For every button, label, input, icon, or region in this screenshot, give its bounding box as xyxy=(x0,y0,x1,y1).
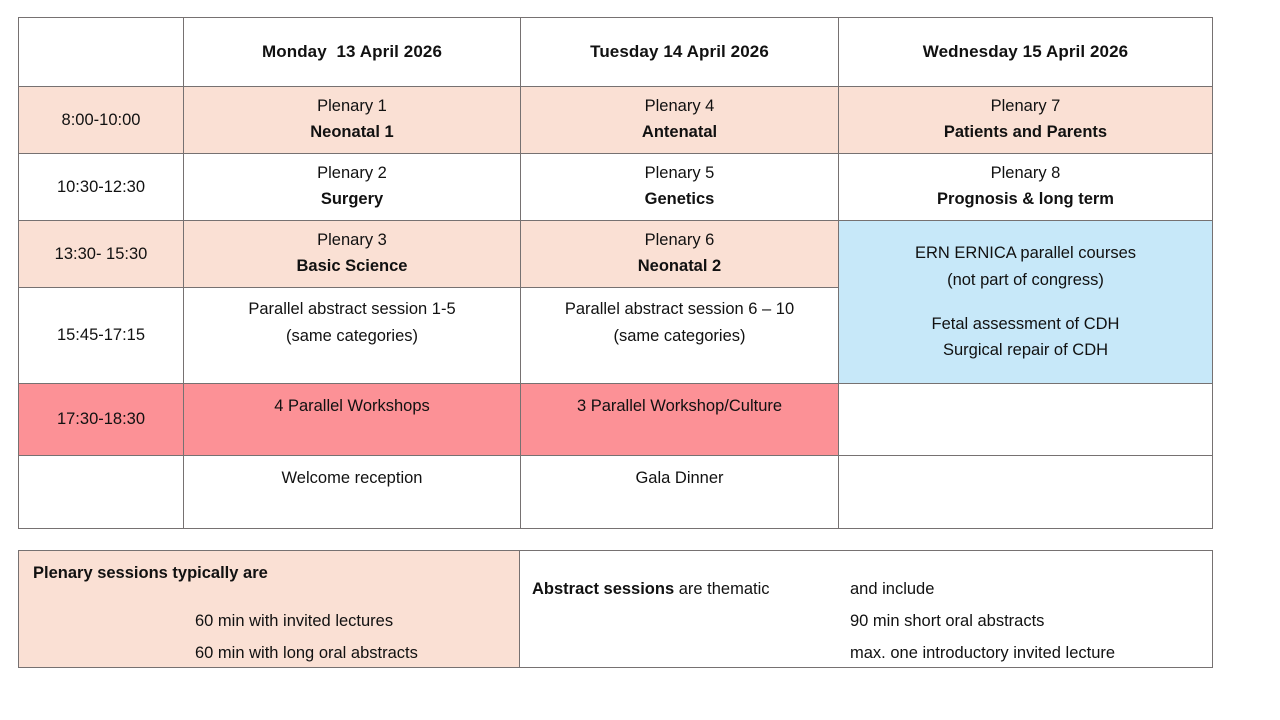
session-cell-wed-1: Plenary 8 Prognosis & long term xyxy=(839,154,1213,221)
time-cell-4: 17:30-18:30 xyxy=(19,384,184,456)
session-topic: Prognosis & long term xyxy=(839,187,1212,213)
session-topic: Surgery xyxy=(184,187,520,213)
session-title: Gala Dinner xyxy=(521,465,838,492)
session-topic: Antenatal xyxy=(521,120,838,146)
session-cell-tue-2: Plenary 6 Neonatal 2 xyxy=(521,221,839,288)
session-topic: Patients and Parents xyxy=(839,120,1212,146)
ern-line-3: Fetal assessment of CDH xyxy=(839,311,1212,338)
session-title: Plenary 5 xyxy=(521,161,838,187)
session-cell-mon-5: Welcome reception xyxy=(184,456,521,529)
session-title: Plenary 2 xyxy=(184,161,520,187)
time-cell-5 xyxy=(19,456,184,529)
legend-plenary-title: Plenary sessions typically are xyxy=(33,564,268,583)
legend-abstract-item-3: max. one introductory invited lecture xyxy=(850,644,1115,663)
legend-abstract-item-2: 90 min short oral abstracts xyxy=(850,612,1044,631)
table-row: 17:30-18:30 4 Parallel Workshops 3 Paral… xyxy=(19,384,1213,456)
session-cell-tue-3: Parallel abstract session 6 – 10 (same c… xyxy=(521,288,839,384)
session-title: Plenary 1 xyxy=(184,94,520,120)
legend-table-container: Plenary sessions typically are 60 min wi… xyxy=(18,550,1212,668)
time-cell-3: 15:45-17:15 xyxy=(19,288,184,384)
ern-spacer xyxy=(839,294,1212,311)
day-label-monday: Monday 13 April 2026 xyxy=(262,42,442,61)
session-cell-wed-5 xyxy=(839,456,1213,529)
legend-abstract-item-1: and include xyxy=(850,580,934,599)
legend-cell-plenary: Plenary sessions typically are 60 min wi… xyxy=(19,551,520,668)
header-cell-blank xyxy=(19,18,184,87)
session-title: Plenary 8 xyxy=(839,161,1212,187)
session-subtitle: (same categories) xyxy=(184,323,520,350)
session-format-legend-table: Plenary sessions typically are 60 min wi… xyxy=(18,550,1213,668)
legend-abstract-content: Abstract sessions are thematic and inclu… xyxy=(520,551,1212,667)
session-title: Plenary 4 xyxy=(521,94,838,120)
legend-abstract-title: Abstract sessions are thematic xyxy=(532,580,770,599)
legend-cell-abstract: Abstract sessions are thematic and inclu… xyxy=(520,551,1213,668)
session-cell-tue-5: Gala Dinner xyxy=(521,456,839,529)
session-title: Plenary 6 xyxy=(521,228,838,254)
session-topic: Genetics xyxy=(521,187,838,213)
table-row: 13:30- 15:30 Plenary 3 Basic Science Ple… xyxy=(19,221,1213,288)
table-row: 10:30-12:30 Plenary 2 Surgery Plenary 5 … xyxy=(19,154,1213,221)
session-title: Welcome reception xyxy=(184,465,520,492)
legend-plenary-item-2: 60 min with long oral abstracts xyxy=(195,644,418,663)
session-title: Parallel abstract session 6 – 10 xyxy=(521,296,838,323)
session-title: 3 Parallel Workshop/Culture xyxy=(521,393,838,420)
ern-line-4: Surgical repair of CDH xyxy=(839,337,1212,364)
legend-abstract-title-bold: Abstract sessions xyxy=(532,580,674,598)
session-cell-mon-0: Plenary 1 Neonatal 1 xyxy=(184,87,521,154)
session-topic: Neonatal 1 xyxy=(184,120,520,146)
time-cell-0: 8:00-10:00 xyxy=(19,87,184,154)
table-row: 8:00-10:00 Plenary 1 Neonatal 1 Plenary … xyxy=(19,87,1213,154)
session-cell-mon-2: Plenary 3 Basic Science xyxy=(184,221,521,288)
legend-abstract-title-rest: are thematic xyxy=(674,580,769,598)
table-row: Welcome reception Gala Dinner xyxy=(19,456,1213,529)
legend-row: Plenary sessions typically are 60 min wi… xyxy=(19,551,1213,668)
session-topic: Neonatal 2 xyxy=(521,254,838,280)
session-title: 4 Parallel Workshops xyxy=(184,393,520,420)
session-subtitle: (same categories) xyxy=(521,323,838,350)
table-header-row: Monday 13 April 2026 Tuesday 14 April 20… xyxy=(19,18,1213,87)
session-title: Plenary 3 xyxy=(184,228,520,254)
session-cell-mon-4: 4 Parallel Workshops xyxy=(184,384,521,456)
header-cell-monday: Monday 13 April 2026 xyxy=(184,18,521,87)
congress-schedule-table: Monday 13 April 2026 Tuesday 14 April 20… xyxy=(18,17,1213,529)
header-cell-wednesday: Wednesday 15 April 2026 xyxy=(839,18,1213,87)
schedule-table-container: Monday 13 April 2026 Tuesday 14 April 20… xyxy=(18,17,1212,529)
session-cell-wed-4 xyxy=(839,384,1213,456)
ern-line-2: (not part of congress) xyxy=(839,267,1212,294)
legend-plenary-content: Plenary sessions typically are 60 min wi… xyxy=(19,551,519,667)
ern-line-1: ERN ERNICA parallel courses xyxy=(839,240,1212,267)
session-cell-tue-0: Plenary 4 Antenatal xyxy=(521,87,839,154)
legend-plenary-item-1: 60 min with invited lectures xyxy=(195,612,393,631)
session-cell-mon-3: Parallel abstract session 1-5 (same cate… xyxy=(184,288,521,384)
session-topic: Basic Science xyxy=(184,254,520,280)
session-cell-tue-1: Plenary 5 Genetics xyxy=(521,154,839,221)
day-label-wednesday: Wednesday 15 April 2026 xyxy=(923,42,1128,61)
session-cell-tue-4: 3 Parallel Workshop/Culture xyxy=(521,384,839,456)
time-cell-1: 10:30-12:30 xyxy=(19,154,184,221)
day-label-tuesday: Tuesday 14 April 2026 xyxy=(590,42,769,61)
session-title: Parallel abstract session 1-5 xyxy=(184,296,520,323)
session-cell-mon-1: Plenary 2 Surgery xyxy=(184,154,521,221)
time-cell-2: 13:30- 15:30 xyxy=(19,221,184,288)
session-cell-wed-ern-courses: ERN ERNICA parallel courses (not part of… xyxy=(839,221,1213,384)
session-title: Plenary 7 xyxy=(839,94,1212,120)
header-cell-tuesday: Tuesday 14 April 2026 xyxy=(521,18,839,87)
session-cell-wed-0: Plenary 7 Patients and Parents xyxy=(839,87,1213,154)
